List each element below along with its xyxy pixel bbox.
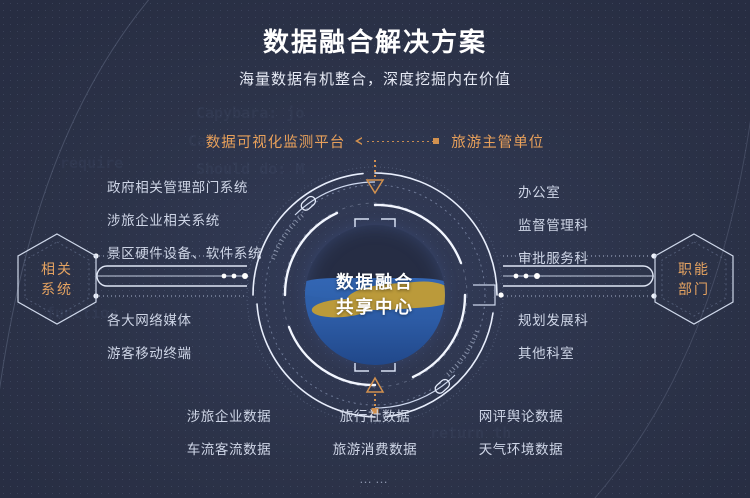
platform-label[interactable]: 数据可视化监测平台	[206, 131, 346, 152]
center-line1: 数据融合	[336, 270, 414, 295]
left-sources-top-list: 政府相关管理部门系统 涉旅企业相关系统 景区硬件设备、软件系统	[107, 176, 262, 275]
bottom-data-more: ……	[0, 471, 750, 486]
list-item: 景区硬件设备、软件系统	[107, 242, 262, 262]
data-item: 旅行社数据	[326, 405, 424, 425]
list-item: 办公室	[518, 181, 589, 201]
data-item: 天气环境数据	[472, 438, 570, 458]
bottom-data-row-1: 涉旅企业数据 旅行社数据 网评舆论数据	[0, 405, 750, 425]
left-sources-bottom-list: 各大网络媒体 游客移动终端	[107, 309, 192, 375]
list-item: 游客移动终端	[107, 342, 192, 362]
left-hub-line1: 相关	[41, 259, 73, 279]
authority-label[interactable]: 旅游主管单位	[451, 131, 544, 152]
top-flow-row: 数据可视化监测平台 旅游主管单位	[0, 131, 750, 152]
left-hub-hexagon[interactable]: 相关 系统	[13, 231, 101, 327]
center-label: 数据融合 共享中心	[305, 225, 445, 365]
dotted-left-arrow-icon	[355, 136, 441, 148]
data-item: 涉旅企业数据	[180, 405, 278, 425]
page-title: 数据融合解决方案	[0, 22, 750, 59]
list-item: 涉旅企业相关系统	[107, 209, 262, 229]
right-hub-line1: 职能	[678, 259, 710, 279]
bottom-data-row-2: 车流客流数据 旅游消费数据 天气环境数据	[0, 438, 750, 458]
center-sphere[interactable]: 数据融合 共享中心	[305, 225, 445, 365]
list-item: 各大网络媒体	[107, 309, 192, 329]
right-hub-hexagon[interactable]: 职能 部门	[650, 231, 738, 327]
page-subtitle: 海量数据有机整合，深度挖掘内在价值	[0, 68, 750, 89]
watermark-text-1: Capybara: jo	[196, 100, 304, 126]
data-item: 旅游消费数据	[326, 438, 424, 458]
list-item: 政府相关管理部门系统	[107, 176, 262, 196]
data-item: 网评舆论数据	[472, 405, 570, 425]
right-hub-label: 职能 部门	[650, 231, 738, 327]
bottom-data-grid: 涉旅企业数据 旅行社数据 网评舆论数据 车流客流数据 旅游消费数据 天气环境数据…	[0, 405, 750, 486]
list-item: 其他科室	[518, 342, 589, 362]
left-hub-label: 相关 系统	[13, 231, 101, 327]
watermark-text-4: require	[60, 150, 123, 176]
infographic-canvas: Capybara: jo Category: de Should do: M r…	[0, 0, 750, 498]
data-item: 车流客流数据	[180, 438, 278, 458]
list-item: 监督管理科	[518, 214, 589, 234]
right-departments-top-list: 办公室 监督管理科 审批服务科	[518, 181, 589, 280]
right-hub-line2: 部门	[678, 279, 710, 299]
list-item: 规划发展科	[518, 309, 589, 329]
list-item: 审批服务科	[518, 247, 589, 267]
right-departments-bottom-list: 规划发展科 其他科室	[518, 309, 589, 375]
left-hub-line2: 系统	[41, 279, 73, 299]
center-line2: 共享中心	[336, 295, 414, 320]
